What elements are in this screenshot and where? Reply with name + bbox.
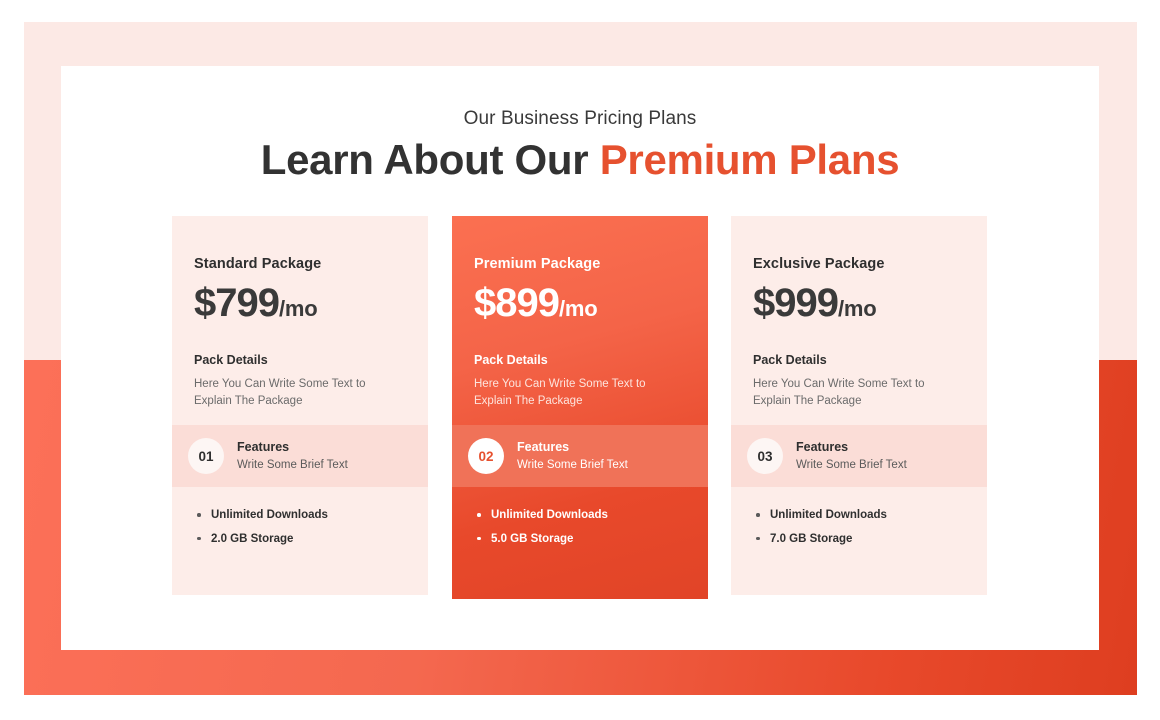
- features-band: 03 Features Write Some Brief Text: [731, 425, 987, 487]
- pricing-card-exclusive[interactable]: Exclusive Package $999/mo Pack Details H…: [731, 216, 987, 595]
- feature-text-group: Features Write Some Brief Text: [517, 440, 628, 473]
- feature-bullet-list: Unlimited Downloads 7.0 GB Storage: [731, 509, 987, 545]
- package-price: $999/mo: [753, 283, 965, 323]
- pricing-card-standard[interactable]: Standard Package $799/mo Pack Details He…: [172, 216, 428, 595]
- feature-number-badge: 03: [747, 438, 783, 474]
- feature-subtitle: Write Some Brief Text: [796, 459, 907, 473]
- features-band: 01 Features Write Some Brief Text: [172, 425, 428, 487]
- features-band: 02 Features Write Some Brief Text: [452, 425, 708, 487]
- feature-number-badge: 01: [188, 438, 224, 474]
- pack-details-text: Here You Can Write Some Text to Explain …: [194, 376, 394, 409]
- list-item: 5.0 GB Storage: [474, 533, 686, 546]
- list-item: Unlimited Downloads: [753, 509, 965, 522]
- feature-title: Features: [796, 440, 907, 455]
- package-name: Standard Package: [194, 256, 406, 272]
- pack-details-heading: Pack Details: [474, 353, 686, 367]
- price-period: /mo: [559, 296, 598, 321]
- slide-canvas: Our Business Pricing Plans Learn About O…: [0, 0, 1160, 720]
- page-title: Learn About Our Premium Plans: [61, 136, 1099, 184]
- price-amount: $899: [474, 281, 559, 325]
- pricing-card-row: Standard Package $799/mo Pack Details He…: [172, 216, 988, 601]
- feature-bullet-list: Unlimited Downloads 2.0 GB Storage: [172, 509, 428, 545]
- page-title-lead: Learn About Our: [261, 136, 600, 183]
- package-price: $899/mo: [474, 283, 686, 323]
- list-item: Unlimited Downloads: [194, 509, 406, 522]
- pricing-card-premium[interactable]: Premium Package $899/mo Pack Details Her…: [452, 216, 708, 599]
- list-item: 7.0 GB Storage: [753, 533, 965, 546]
- feature-subtitle: Write Some Brief Text: [517, 459, 628, 473]
- pack-details-text: Here You Can Write Some Text to Explain …: [753, 376, 953, 409]
- card-header-exclusive: Exclusive Package $999/mo Pack Details H…: [731, 216, 987, 409]
- feature-bullet-list: Unlimited Downloads 5.0 GB Storage: [452, 509, 708, 545]
- list-item: Unlimited Downloads: [474, 509, 686, 522]
- content-panel: Our Business Pricing Plans Learn About O…: [61, 66, 1099, 650]
- package-name: Premium Package: [474, 256, 686, 272]
- feature-subtitle: Write Some Brief Text: [237, 459, 348, 473]
- card-header-premium: Premium Package $899/mo Pack Details Her…: [452, 216, 708, 409]
- pack-details-text: Here You Can Write Some Text to Explain …: [474, 376, 674, 409]
- package-name: Exclusive Package: [753, 256, 965, 272]
- pack-details-heading: Pack Details: [194, 353, 406, 367]
- page-title-accent: Premium Plans: [600, 136, 900, 183]
- feature-title: Features: [237, 440, 348, 455]
- price-period: /mo: [838, 296, 877, 321]
- feature-number-badge: 02: [468, 438, 504, 474]
- eyebrow-text: Our Business Pricing Plans: [61, 108, 1099, 130]
- price-amount: $799: [194, 281, 279, 325]
- list-item: 2.0 GB Storage: [194, 533, 406, 546]
- feature-title: Features: [517, 440, 628, 455]
- card-header-standard: Standard Package $799/mo Pack Details He…: [172, 216, 428, 409]
- pack-details-heading: Pack Details: [753, 353, 965, 367]
- package-price: $799/mo: [194, 283, 406, 323]
- feature-text-group: Features Write Some Brief Text: [237, 440, 348, 473]
- price-amount: $999: [753, 281, 838, 325]
- price-period: /mo: [279, 296, 318, 321]
- feature-text-group: Features Write Some Brief Text: [796, 440, 907, 473]
